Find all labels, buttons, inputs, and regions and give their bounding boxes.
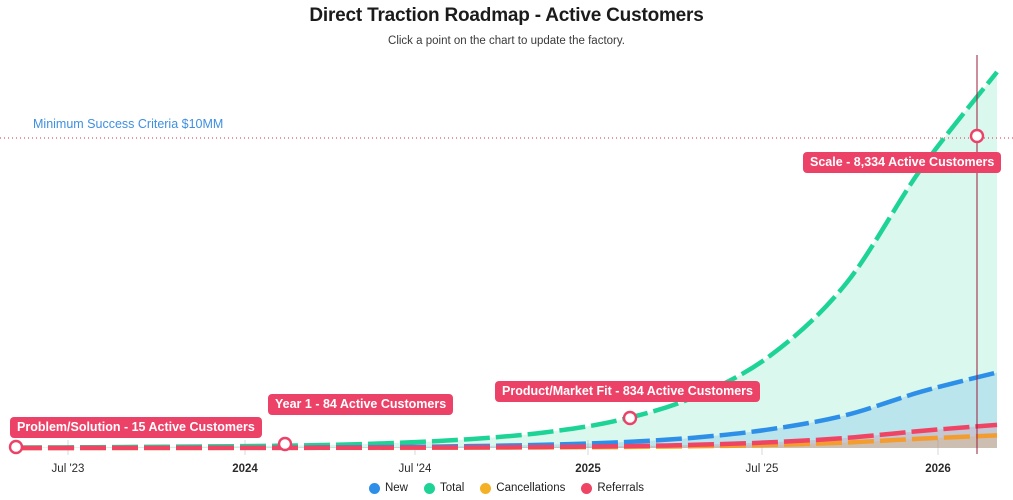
threshold-label: Minimum Success Criteria $10MM [33,117,223,131]
milestone-point-scale[interactable] [971,130,983,142]
chart-root: Direct Traction Roadmap - Active Custome… [0,0,1013,500]
page-title: Direct Traction Roadmap - Active Custome… [0,5,1013,27]
annotation-product-market-fit[interactable]: Product/Market Fit - 834 Active Customer… [495,381,760,402]
annotation-scale[interactable]: Scale - 8,334 Active Customers [803,152,1001,173]
milestone-point-product-market-fit[interactable] [624,412,636,424]
annotation-year-1[interactable]: Year 1 - 84 Active Customers [268,394,453,415]
legend-label: Cancellations [496,482,565,494]
x-axis-tick: 2025 [575,463,601,475]
chart-subtitle: Click a point on the chart to update the… [0,35,1013,47]
x-axis-tick: Jul '23 [52,463,85,475]
legend-swatch-icon [424,483,435,494]
x-axis: Jul '232024Jul '242025Jul '252026 [0,455,1013,481]
x-axis-tick: Jul '24 [399,463,432,475]
annotation-problem-solution[interactable]: Problem/Solution - 15 Active Customers [10,417,262,438]
legend-swatch-icon [480,483,491,494]
milestone-point-problem-solution[interactable] [10,441,22,453]
x-axis-tick: 2024 [232,463,258,475]
legend-label: New [385,482,408,494]
chart-legend: NewTotalCancellationsReferrals [0,482,1013,494]
x-axis-tick: Jul '25 [746,463,779,475]
x-axis-tick: 2026 [925,463,951,475]
legend-label: Referrals [597,482,644,494]
legend-item-referrals[interactable]: Referrals [581,482,644,494]
legend-label: Total [440,482,464,494]
legend-swatch-icon [369,483,380,494]
milestone-point-year-1[interactable] [279,438,291,450]
legend-swatch-icon [581,483,592,494]
legend-item-cancellations[interactable]: Cancellations [480,482,565,494]
legend-item-new[interactable]: New [369,482,408,494]
legend-item-total[interactable]: Total [424,482,464,494]
